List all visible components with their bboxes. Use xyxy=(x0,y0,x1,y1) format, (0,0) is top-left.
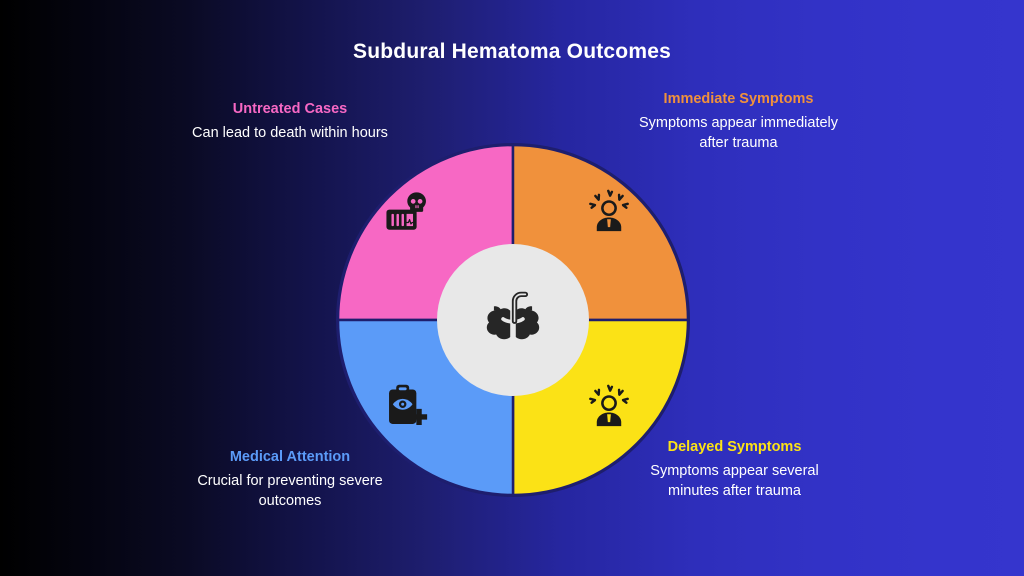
medical-clipboard-plus-icon xyxy=(384,383,430,429)
person-headache-icon xyxy=(586,383,632,429)
person-headache-icon xyxy=(586,188,632,234)
callout-delayed: Delayed Symptoms Symptoms appear several… xyxy=(632,437,837,501)
callout-untreated-heading: Untreated Cases xyxy=(180,99,400,119)
infographic-canvas: Subdural Hematoma Outcomes xyxy=(0,0,1024,576)
skull-flatline-icon xyxy=(385,188,431,234)
callout-immediate-body: Symptoms appear immediately after trauma xyxy=(636,113,841,153)
page-title: Subdural Hematoma Outcomes xyxy=(0,40,1024,64)
callout-medical-body: Crucial for preventing severe outcomes xyxy=(180,471,400,511)
callout-medical-heading: Medical Attention xyxy=(180,447,400,467)
callout-untreated: Untreated Cases Can lead to death within… xyxy=(180,99,400,143)
callout-immediate: Immediate Symptoms Symptoms appear immed… xyxy=(636,89,841,153)
brain-icon xyxy=(480,282,546,348)
callout-delayed-heading: Delayed Symptoms xyxy=(632,437,837,457)
callout-medical: Medical Attention Crucial for preventing… xyxy=(180,447,400,511)
callout-immediate-heading: Immediate Symptoms xyxy=(636,89,841,109)
callout-untreated-body: Can lead to death within hours xyxy=(180,123,400,143)
callout-delayed-body: Symptoms appear several minutes after tr… xyxy=(632,461,837,501)
